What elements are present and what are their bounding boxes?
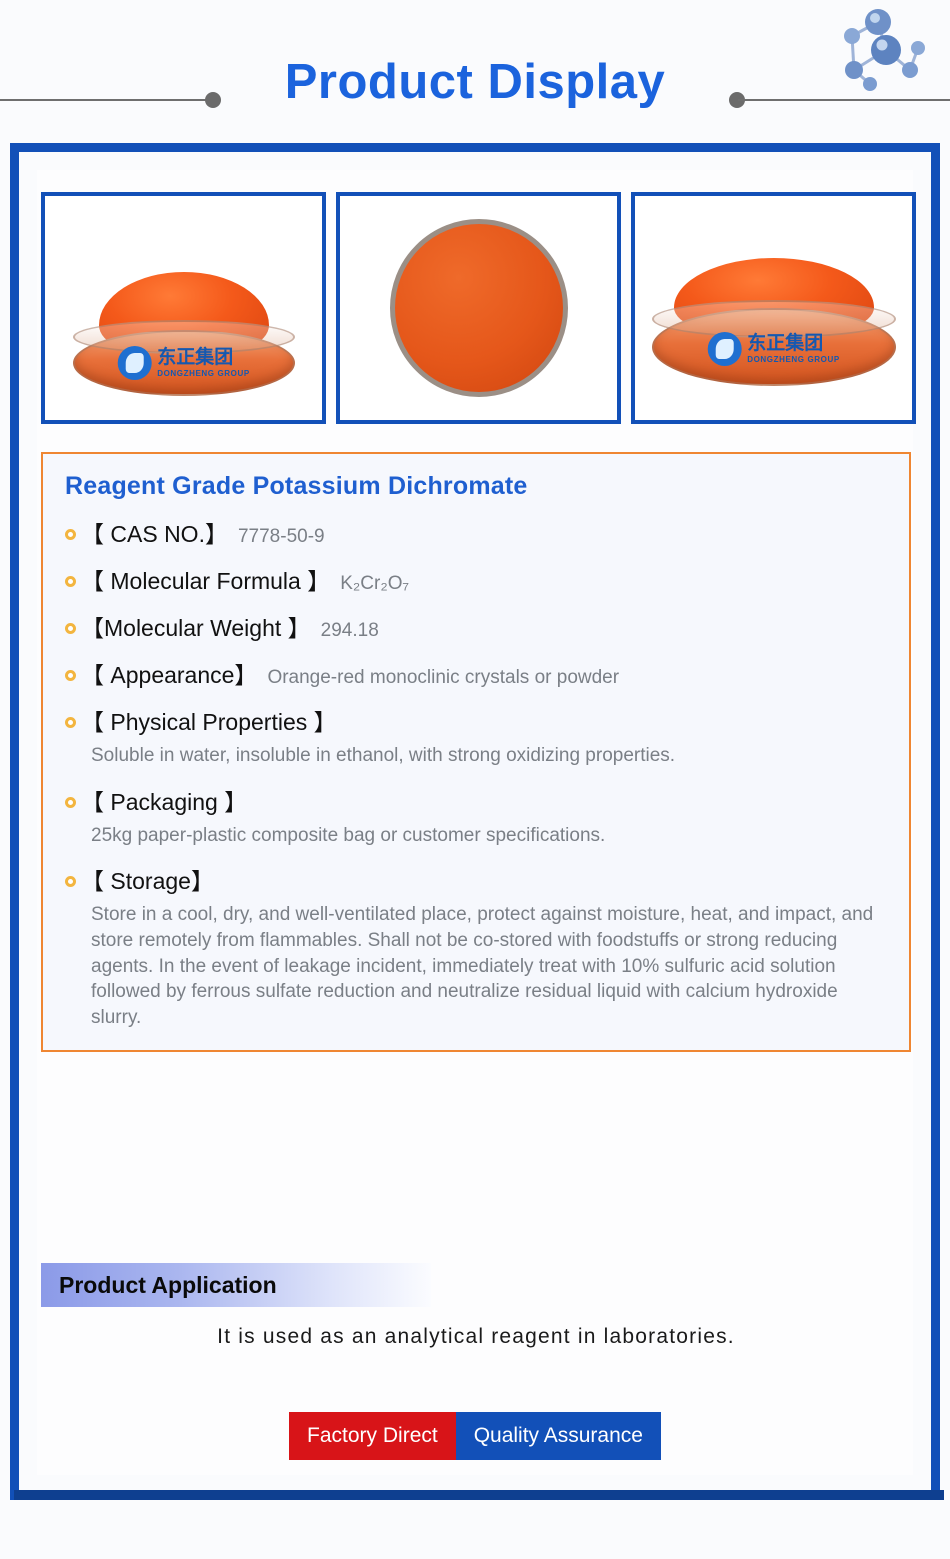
- product-image-1[interactable]: 东正集团 DONGZHENG GROUP: [41, 192, 326, 424]
- badge-factory-direct[interactable]: Factory Direct: [289, 1412, 456, 1460]
- product-name: Reagent Grade Potassium Dichromate: [65, 472, 887, 501]
- spec-row-storage: 【 Storage】: [65, 862, 887, 896]
- spec-paragraph-storage: Store in a cool, dry, and well-ventilate…: [91, 902, 887, 1030]
- spec-label: 【Molecular Weight 】: [81, 609, 311, 643]
- spec-label: 【 Physical Properties 】: [81, 703, 337, 737]
- molecule-icon: [818, 4, 938, 96]
- spec-label: 【 Storage】: [81, 862, 214, 896]
- badge-row: Factory Direct Quality Assurance: [37, 1412, 913, 1460]
- spec-row-appearance: 【 Appearance】 Orange-red monoclinic crys…: [65, 656, 887, 690]
- spec-value: Orange-red monoclinic crystals or powder: [267, 667, 619, 689]
- specification-box: Reagent Grade Potassium Dichromate 【 CAS…: [41, 452, 911, 1052]
- spec-label: 【 CAS NO.】: [81, 515, 228, 549]
- product-image-2[interactable]: [336, 192, 621, 424]
- spec-row-physical-properties: 【 Physical Properties 】: [65, 703, 887, 737]
- card-shadow: [14, 1490, 944, 1500]
- badge-quality-assurance[interactable]: Quality Assurance: [456, 1412, 661, 1460]
- bullet-icon: [65, 576, 76, 587]
- spec-label: 【 Packaging 】: [81, 783, 247, 817]
- spec-row-molecular-formula: 【 Molecular Formula 】 K₂Cr₂O₇: [65, 562, 887, 596]
- spec-label: 【 Molecular Formula 】: [81, 562, 330, 596]
- bullet-icon: [65, 717, 76, 728]
- product-image-gallery: 东正集团 DONGZHENG GROUP: [41, 192, 916, 424]
- bullet-icon: [65, 670, 76, 681]
- brand-name-en: DONGZHENG GROUP: [157, 370, 250, 378]
- brand-logo-icon: [117, 346, 151, 380]
- spec-value: 7778-50-9: [238, 526, 325, 548]
- spec-row-packaging: 【 Packaging 】: [65, 783, 887, 817]
- spec-value: 294.18: [321, 620, 379, 642]
- dish-top-view: [390, 219, 568, 397]
- product-application-header: Product Application: [41, 1263, 431, 1307]
- bullet-icon: [65, 876, 76, 887]
- spec-label: 【 Appearance】: [81, 656, 257, 690]
- spec-paragraph-physical-properties: Soluble in water, insoluble in ethanol, …: [91, 743, 887, 769]
- card-content: 东正集团 DONGZHENG GROUP: [37, 170, 913, 1475]
- brand-logo-icon: [707, 332, 741, 366]
- spec-paragraph-packaging: 25kg paper-plastic composite bag or cust…: [91, 823, 887, 849]
- header-divider-right: [738, 99, 950, 101]
- spec-value: K₂Cr₂O₇: [340, 573, 409, 595]
- product-application-text: It is used as an analytical reagent in l…: [217, 1325, 735, 1348]
- product-card: 东正集团 DONGZHENG GROUP: [10, 143, 940, 1500]
- brand-name-cn: 东正集团: [157, 348, 250, 367]
- bullet-icon: [65, 623, 76, 634]
- page-header: Product Display: [0, 0, 950, 132]
- bullet-icon: [65, 797, 76, 808]
- product-image-3[interactable]: 东正集团 DONGZHENG GROUP: [631, 192, 916, 424]
- brand-name-cn: 东正集团: [747, 334, 840, 353]
- bullet-icon: [65, 529, 76, 540]
- product-application-body: It is used as an analytical reagent in l…: [41, 1325, 911, 1349]
- product-application-title: Product Application: [59, 1272, 277, 1299]
- brand-name-en: DONGZHENG GROUP: [747, 356, 840, 364]
- spec-row-molecular-weight: 【Molecular Weight 】 294.18: [65, 609, 887, 643]
- spec-row-cas: 【 CAS NO.】 7778-50-9: [65, 515, 887, 549]
